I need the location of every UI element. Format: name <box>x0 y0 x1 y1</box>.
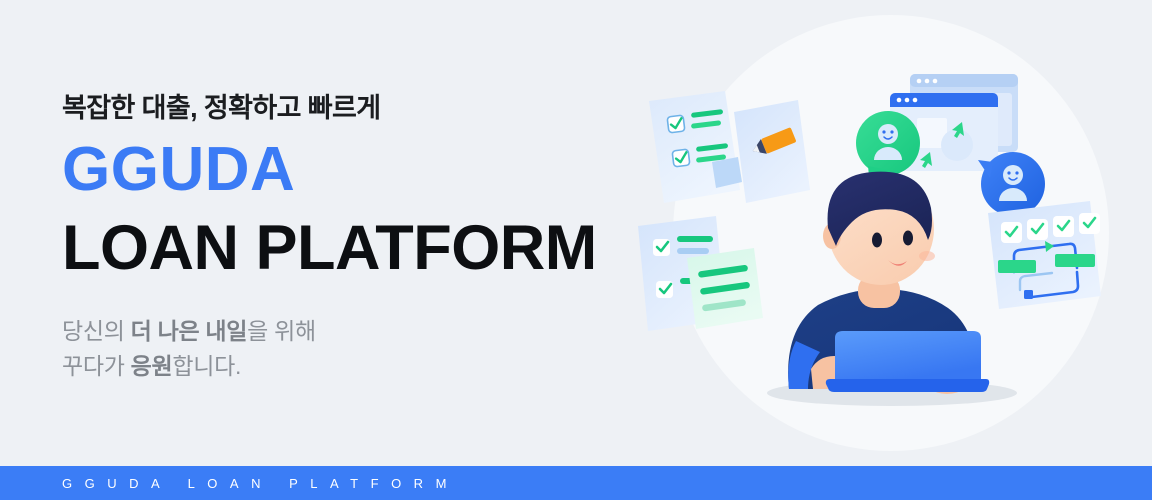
hero-brand-title: GGUDA <box>62 138 622 201</box>
tagline-2-emphasis: 응원 <box>131 353 173 379</box>
hero-banner: 복잡한 대출, 정확하고 빠르게 GGUDA LOAN PLATFORM 당신의… <box>0 0 1152 500</box>
green-note-card <box>687 248 763 329</box>
illustration-svg <box>620 0 1152 466</box>
hero-tagline-line-1: 당신의 더 나은 내일을 위해 <box>62 314 622 350</box>
tagline-1-pre: 당신의 <box>62 318 131 344</box>
laptop-base <box>826 379 989 392</box>
tagline-2-pre: 꾸다가 <box>62 353 131 379</box>
hero-illustration <box>620 0 1152 466</box>
person-eye-right <box>903 231 913 246</box>
laptop-screen <box>835 331 981 379</box>
tagline-2-post: 합니다. <box>172 353 241 379</box>
bottom-banner-text: GGUDA LOAN PLATFORM <box>0 476 459 491</box>
hero-tagline-line-2: 꾸다가 응원합니다. <box>62 349 622 385</box>
tagline-1-emphasis: 더 나은 내일 <box>131 318 247 344</box>
hero-copy: 복잡한 대출, 정확하고 빠르게 GGUDA LOAN PLATFORM 당신의… <box>62 92 622 385</box>
hero-eyebrow: 복잡한 대출, 정확하고 빠르게 <box>62 92 622 124</box>
bottom-banner: GGUDA LOAN PLATFORM <box>0 466 1152 500</box>
checklist-card-top-left <box>649 91 740 203</box>
laptop <box>826 331 989 392</box>
workflow-card <box>988 201 1101 309</box>
hero-tagline: 당신의 더 나은 내일을 위해 꾸다가 응원합니다. <box>62 314 622 385</box>
person-eye-left <box>872 233 882 248</box>
tagline-1-post: 을 위해 <box>247 318 316 344</box>
hero-product-title: LOAN PLATFORM <box>62 214 622 282</box>
